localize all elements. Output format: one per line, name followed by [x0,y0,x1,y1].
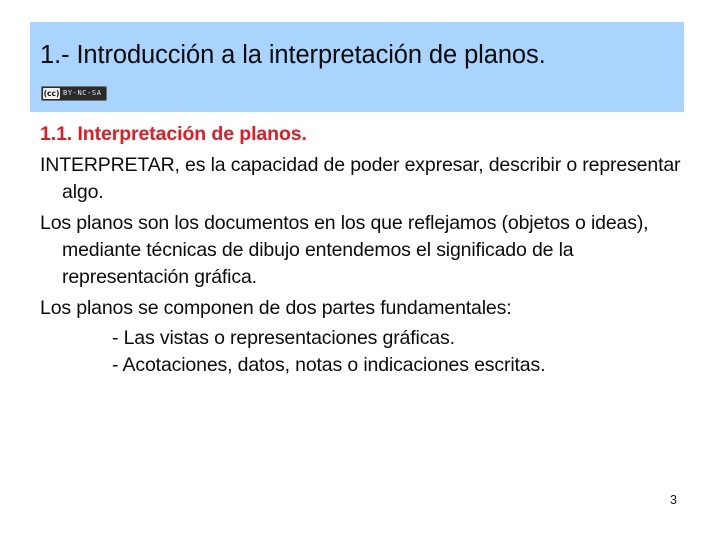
body-content: 1.1. Interpretación de planos. INTERPRET… [40,122,688,379]
license-terms-label: BY-NC-SA [63,90,104,97]
page-title: 1.- Introducción a la interpretación de … [40,40,546,70]
slide-canvas: 1.- Introducción a la interpretación de … [0,0,720,540]
section-heading: 1.1. Interpretación de planos. [40,122,688,146]
list-item: - Las vistas o representaciones gráficas… [40,325,688,352]
paragraph-planos-partes: Los planos se componen de dos partes fun… [40,295,688,322]
paragraph-planos-documentos: Los planos son los documentos en los que… [40,210,688,291]
paragraph-interpretar: INTERPRETAR, es la capacidad de poder ex… [40,152,688,206]
creative-commons-icon: (cc) [43,88,60,99]
list-item: - Acotaciones, datos, notas o indicacion… [40,352,688,379]
page-number: 3 [670,493,677,507]
creative-commons-badge[interactable]: (cc) BY-NC-SA [41,86,107,101]
title-band: 1.- Introducción a la interpretación de … [30,22,684,112]
